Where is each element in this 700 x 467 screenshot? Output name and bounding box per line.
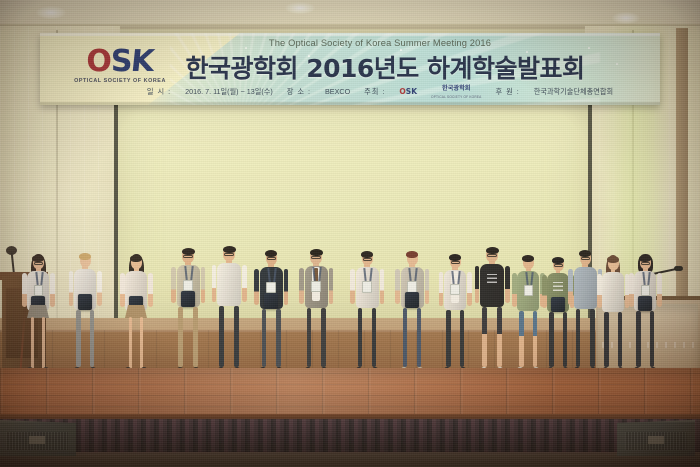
leg-left: [446, 310, 451, 367]
torso-shirt: [574, 267, 597, 309]
name-badge: [641, 285, 650, 296]
eyeglasses: [487, 254, 497, 257]
leg-right: [90, 310, 95, 367]
arm-left: [439, 272, 444, 306]
person-8: [352, 250, 383, 372]
arm-left: [568, 269, 573, 305]
arm-left: [69, 271, 74, 306]
arm-right: [657, 273, 662, 307]
leg-right: [140, 317, 143, 369]
eyeglasses: [34, 262, 43, 265]
floor-apron: [0, 452, 700, 467]
leg-right: [460, 310, 465, 367]
arm-left: [212, 265, 217, 302]
name-badge: [34, 285, 43, 296]
eyeglasses: [311, 256, 321, 259]
stage-monitor-left: [0, 420, 76, 456]
leg-right: [417, 308, 422, 367]
leg-left: [178, 307, 183, 367]
leg-left: [129, 317, 132, 369]
name-badge: [450, 284, 459, 295]
name-badge: [183, 280, 193, 292]
leg-left: [482, 307, 487, 367]
torso-tee: [480, 264, 504, 307]
person-11: [476, 246, 508, 372]
person-9: [397, 250, 428, 372]
leg-left: [307, 308, 312, 367]
award-plaque: [78, 294, 92, 309]
arm-right: [425, 269, 430, 304]
eyeglasses: [554, 264, 563, 267]
leg-left: [519, 311, 524, 367]
torso-shirt: [217, 263, 241, 306]
arm-left: [475, 266, 480, 303]
arm-left: [542, 275, 546, 309]
leg-right: [590, 309, 595, 367]
hair-top: [552, 257, 564, 264]
eyeglasses: [581, 257, 590, 260]
hair-top: [449, 254, 461, 261]
stage-floor-sheen: [0, 368, 700, 418]
leg-left: [636, 311, 641, 367]
arm-right: [467, 272, 472, 306]
person-12: [513, 254, 543, 372]
tshirt-graphic: [487, 274, 498, 284]
leg-left: [604, 312, 609, 367]
tshirt-graphic: [553, 282, 563, 291]
leg-left: [576, 309, 581, 367]
torso-blouse: [602, 272, 624, 312]
leg-right: [372, 308, 377, 367]
leg-right: [563, 312, 568, 367]
arm-left: [171, 267, 176, 303]
eyeglasses: [183, 255, 193, 258]
leg-left: [76, 310, 81, 367]
arm-right: [380, 269, 385, 304]
person-16: [630, 254, 660, 372]
arm-right: [50, 273, 55, 307]
person-6: [256, 249, 287, 372]
arm-left: [512, 273, 517, 307]
photograph-conference-award-ceremony: OSK OPTICAL SOCIETY OF KOREA The Optical…: [0, 0, 700, 467]
arm-right: [201, 267, 206, 303]
award-plaque: [638, 296, 652, 311]
leg-right: [276, 309, 281, 367]
person-14: [570, 249, 601, 372]
stage-monitor-right: [617, 420, 695, 456]
eyeglasses: [267, 257, 276, 260]
person-10: [440, 253, 470, 372]
leg-right: [321, 308, 326, 367]
eyeglasses: [641, 262, 650, 265]
arm-right: [284, 269, 289, 305]
hair-top: [522, 255, 534, 262]
leg-left: [31, 317, 34, 369]
arm-left: [597, 274, 601, 308]
arm-right: [97, 271, 102, 306]
arm-right: [329, 268, 334, 304]
person-3: [121, 254, 151, 372]
arm-left: [629, 273, 634, 307]
name-badge: [266, 282, 275, 293]
leg-right: [618, 312, 623, 367]
leg-right: [533, 311, 538, 367]
leg-left: [219, 306, 224, 367]
leg-left: [549, 312, 554, 367]
award-plaque: [264, 293, 279, 309]
name-badge: [362, 281, 371, 292]
eyeglasses: [451, 261, 460, 264]
person-2: [70, 252, 101, 372]
arm-left: [22, 273, 27, 307]
arm-right: [505, 266, 510, 303]
leg-right: [650, 311, 655, 367]
hair-top: [607, 256, 619, 263]
hair-top: [406, 251, 418, 258]
arm-left: [299, 268, 304, 304]
arm-left: [120, 273, 125, 307]
arm-right: [148, 273, 153, 307]
leg-right: [42, 317, 45, 369]
arm-right: [242, 265, 247, 302]
name-badge: [407, 281, 416, 292]
award-plaque: [181, 291, 196, 307]
arm-left: [395, 269, 400, 304]
award-recipients-group: [0, 0, 700, 420]
person-7: [300, 248, 332, 372]
name-badge: [524, 285, 533, 296]
skirt: [27, 305, 49, 318]
award-plaque: [551, 297, 565, 312]
skirt: [125, 305, 147, 318]
eyeglasses: [224, 253, 234, 256]
name-badge: [311, 281, 320, 293]
leg-left: [403, 308, 408, 367]
leg-right: [234, 306, 239, 367]
person-4: [172, 247, 204, 372]
leg-left: [262, 309, 267, 367]
hair-top: [361, 251, 373, 258]
hair-top: [32, 255, 44, 262]
hair-top: [130, 255, 142, 262]
hair-top: [79, 253, 91, 260]
eyeglasses: [363, 258, 372, 261]
leg-left: [358, 308, 363, 367]
award-plaque: [405, 292, 419, 307]
leg-right: [497, 307, 502, 367]
arm-left: [254, 269, 259, 305]
person-1: [23, 254, 53, 372]
person-15: [598, 255, 628, 372]
arm-left: [350, 269, 355, 304]
person-5: [213, 245, 245, 372]
leg-right: [193, 307, 198, 367]
hair-top: [639, 255, 651, 262]
